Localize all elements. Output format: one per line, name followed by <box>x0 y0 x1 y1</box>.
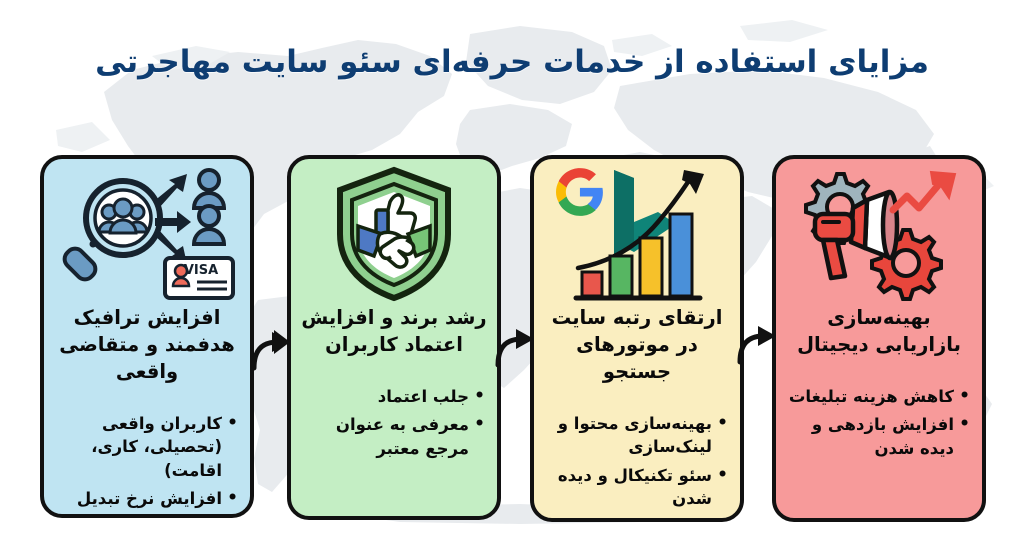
list-item: افزایش بازدهی و دیده شدن <box>788 413 970 460</box>
card-bullet-list: کاربران واقعی (تحصیلی، کاری، اقامت) افزا… <box>44 412 250 516</box>
list-item: سئو تکنیکال و دیده شدن <box>546 464 728 511</box>
card-digital-marketing[interactable]: بهینه‌سازی بازاریابی دیجیتال کاهش هزینه … <box>772 155 986 522</box>
card-bullet-list: بهینه‌سازی محتوا و لینک‌سازی سئو تکنیکال… <box>534 412 740 516</box>
card-heading: افزایش ترافیک هدفمند و متقاضی واقعی <box>44 305 250 386</box>
svg-text:VISA: VISA <box>184 263 218 278</box>
list-item: افزایش نرخ تبدیل <box>56 487 238 510</box>
card-bullet-list: جلب اعتماد معرفی به عنوان مرجع معتبر <box>291 385 497 465</box>
card-brand-trust[interactable]: رشد برند و افزایش اعتماد کاربران جلب اعت… <box>287 155 501 520</box>
list-item: کاهش هزینه تبلیغات <box>788 385 970 408</box>
growth-arrow-icon <box>893 182 941 210</box>
arrow-card1-to-card2 <box>248 316 296 374</box>
card-heading: بهینه‌سازی بازاریابی دیجیتال <box>776 305 982 359</box>
card-bullet-list: کاهش هزینه تبلیغات افزایش بازدهی و دیده … <box>776 385 982 465</box>
card-targeted-traffic[interactable]: VISA افزایش ترافیک هدفمند و متقاضی واقعی… <box>40 155 254 518</box>
list-item: بهینه‌سازی محتوا و لینک‌سازی <box>546 412 728 459</box>
card-search-ranking[interactable]: ارتقای رتبه سایت در موتورهای جستجو بهینه… <box>530 155 744 522</box>
card-heading: رشد برند و افزایش اعتماد کاربران <box>291 305 497 359</box>
list-item: کاربران واقعی (تحصیلی، کاری، اقامت) <box>56 412 238 482</box>
list-item: جلب اعتماد <box>303 385 485 408</box>
google-bing-growth-chart-icon <box>534 159 740 309</box>
card-heading: ارتقای رتبه سایت در موتورهای جستجو <box>534 305 740 386</box>
list-item: معرفی به عنوان مرجع معتبر <box>303 413 485 460</box>
megaphone-gears-growth-icon <box>776 159 982 309</box>
google-logo-icon <box>556 168 603 216</box>
page-title: مزایای استفاده از خدمات حرفه‌ای سئو سایت… <box>0 42 1024 84</box>
magnifier-people-visa-icon: VISA <box>44 159 250 309</box>
arrow-card2-to-card3 <box>492 313 540 371</box>
arrow-card3-to-card4 <box>734 310 782 368</box>
shield-handshake-thumbsup-icon <box>291 159 497 309</box>
